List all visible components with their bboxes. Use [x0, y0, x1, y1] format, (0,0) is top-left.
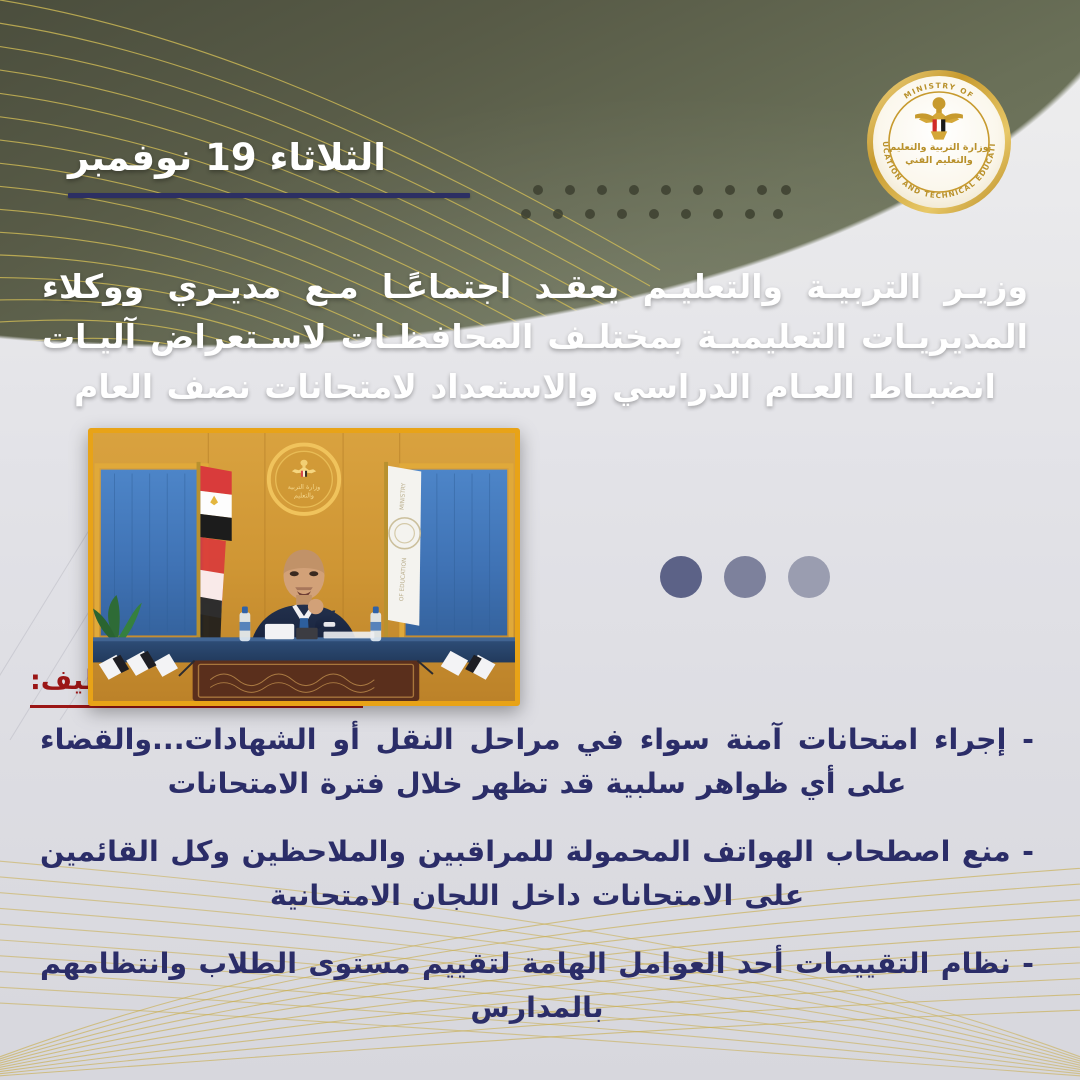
photo-content: وزارة التربية والتعليم — [93, 433, 515, 701]
date-text: الثلاثاء 19 نوفمبر — [68, 138, 470, 179]
statement-item-3: - نظام التقييمات أحد العوامل الهامة لتقي… — [40, 942, 1034, 1029]
ministry-seal-logo: وزارة التربية والتعليم والتعليم الفني MI… — [865, 68, 1013, 216]
ornament-circle-1 — [788, 556, 830, 598]
ornament-circle-3 — [660, 556, 702, 598]
statement-list: - إجراء امتحانات آمنة سواء في مراحل النق… — [40, 718, 1034, 1055]
svg-text:والتعليم: والتعليم — [294, 493, 314, 500]
announcement-poster: وزارة التربية والتعليم والتعليم الفني MI… — [0, 0, 1080, 1080]
date-block: الثلاثاء 19 نوفمبر — [68, 138, 470, 198]
ornament-circle-2 — [724, 556, 766, 598]
dot-grid-ornament — [520, 180, 800, 224]
ornament-circles — [660, 556, 830, 598]
date-underline — [68, 193, 470, 198]
minister-meeting-photo: وزارة التربية والتعليم — [88, 428, 520, 706]
svg-text:وزارة التربية والتعليم: وزارة التربية والتعليم — [889, 142, 988, 153]
statement-item-2: - منع اصطحاب الهواتف المحمولة للمراقبين … — [40, 830, 1034, 917]
svg-text:وزارة التربية: وزارة التربية — [288, 484, 320, 491]
svg-text:والتعليم الفني: والتعليم الفني — [905, 155, 973, 166]
page-title: وزيـر التربيـة والتعليـم يعقـد اجتماعًـا… — [42, 262, 1028, 412]
statement-item-1: - إجراء امتحانات آمنة سواء في مراحل النق… — [40, 718, 1034, 805]
